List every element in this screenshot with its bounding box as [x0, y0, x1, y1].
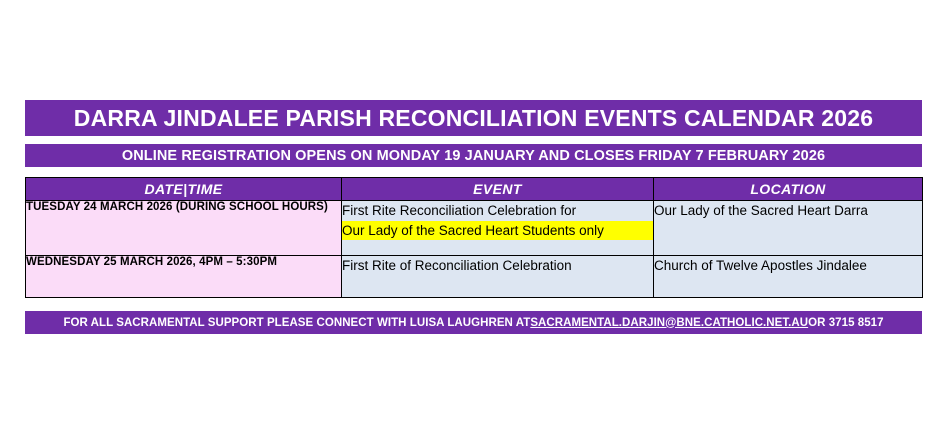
cell-event: First Rite Reconciliation Celebration fo… — [342, 201, 654, 256]
cell-event: First Rite of Reconciliation Celebration — [342, 256, 654, 298]
sacramental-email-link[interactable]: SACRAMENTAL.DARJIN@BNE.CATHOLIC.NET.AU — [530, 317, 808, 329]
event-text-line-1: First Rite Reconciliation Celebration fo… — [342, 201, 653, 221]
calendar-title-banner: DARRA JINDALEE PARISH RECONCILIATION EVE… — [25, 100, 922, 136]
column-header-date-time: DATE|TIME — [26, 178, 342, 201]
cell-date-time: TUESDAY 24 MARCH 2026 (DURING SCHOOL HOU… — [26, 201, 342, 256]
footer-text-prefix: FOR ALL SACRAMENTAL SUPPORT PLEASE CONNE… — [63, 317, 530, 329]
column-header-location: LOCATION — [654, 178, 923, 201]
sacramental-support-banner: FOR ALL SACRAMENTAL SUPPORT PLEASE CONNE… — [25, 311, 922, 334]
table-row: WEDNESDAY 25 MARCH 2026, 4PM – 5:30PM Fi… — [26, 256, 923, 298]
events-calendar-table: DATE|TIME EVENT LOCATION TUESDAY 24 MARC… — [25, 177, 923, 298]
flyer-page: DARRA JINDALEE PARISH RECONCILIATION EVE… — [0, 0, 951, 435]
table-header-row: DATE|TIME EVENT LOCATION — [26, 178, 923, 201]
event-text-line-1: First Rite of Reconciliation Celebration — [342, 256, 653, 275]
registration-window-banner: ONLINE REGISTRATION OPENS ON MONDAY 19 J… — [25, 144, 922, 167]
cell-location: Our Lady of the Sacred Heart Darra — [654, 201, 923, 256]
cell-date-time: WEDNESDAY 25 MARCH 2026, 4PM – 5:30PM — [26, 256, 342, 298]
table-row: TUESDAY 24 MARCH 2026 (DURING SCHOOL HOU… — [26, 201, 923, 256]
footer-text-suffix: OR 3715 8517 — [808, 317, 883, 329]
cell-location: Church of Twelve Apostles Jindalee — [654, 256, 923, 298]
column-header-event: EVENT — [342, 178, 654, 201]
event-text-line-2-highlighted: Our Lady of the Sacred Heart Students on… — [342, 221, 653, 240]
